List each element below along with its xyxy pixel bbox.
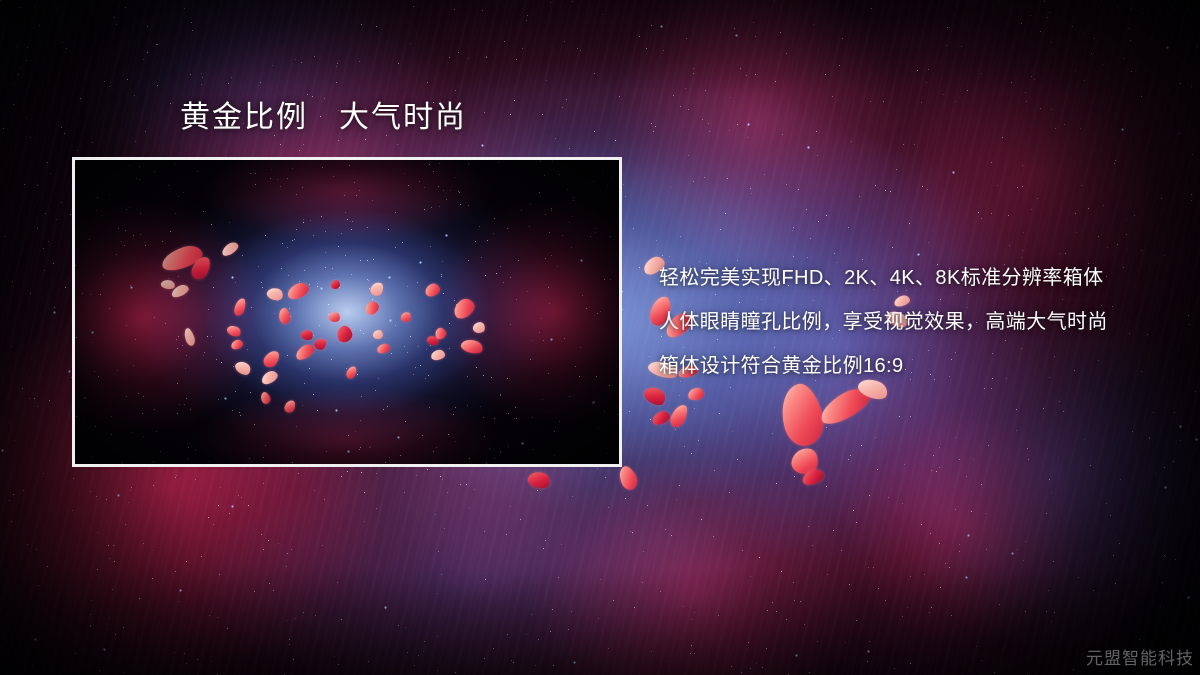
petal [450,295,478,321]
petal [616,464,641,493]
petal [472,321,485,334]
petal [687,387,705,401]
petal [433,326,448,341]
petal [331,280,340,289]
petal [259,391,272,406]
petal [182,327,197,347]
petal [300,328,315,342]
petal [790,446,821,477]
petal [233,297,248,317]
presentation-slide: 黄金比例 大气时尚 轻松完美实现FHD、2K、4K、8K标准分辨率箱体 人体眼睛… [0,0,1200,675]
petal [345,365,358,380]
petal [233,358,253,377]
petal [426,334,441,347]
petal [189,254,213,282]
copy-line: 人体眼睛瞳孔比例，享受视觉效果，高端大气时尚 [659,300,1189,344]
petal [225,323,242,338]
petal [160,279,176,291]
petal [369,280,386,298]
petal [372,329,383,339]
petal [328,311,341,323]
petal [293,342,316,362]
petal [526,469,552,491]
frame-vignette [75,160,619,464]
petal [775,380,829,450]
petal [283,399,297,415]
image-frame [72,157,622,467]
frame-nebula-red [75,160,619,464]
petal [800,467,825,487]
petal [668,402,691,430]
petal [423,282,441,298]
petal [400,311,413,324]
petal [285,280,311,301]
petal [159,242,205,274]
petal [259,369,279,387]
petal [363,299,381,317]
copy-line: 箱体设计符合黄金比例16:9 [659,344,1189,388]
petal [230,339,244,351]
body-copy: 轻松完美实现FHD、2K、4K、8K标准分辨率箱体 人体眼睛瞳孔比例，享受视觉效… [659,256,1189,388]
petal [261,348,282,370]
petal [376,343,391,355]
petal [266,286,285,302]
petal [312,336,328,352]
page-title: 黄金比例 大气时尚 [180,101,467,135]
petal [220,240,241,258]
petal [277,307,291,325]
petal [170,283,191,299]
petal [816,383,875,430]
petal [460,337,485,356]
petal [650,409,671,426]
petal [335,324,354,344]
copy-line: 轻松完美实现FHD、2K、4K、8K标准分辨率箱体 [659,256,1189,300]
frame-starfield [75,160,619,464]
frame-nebula-core [75,160,619,464]
watermark: 元盟智能科技 [1086,649,1194,669]
petal [430,349,446,361]
